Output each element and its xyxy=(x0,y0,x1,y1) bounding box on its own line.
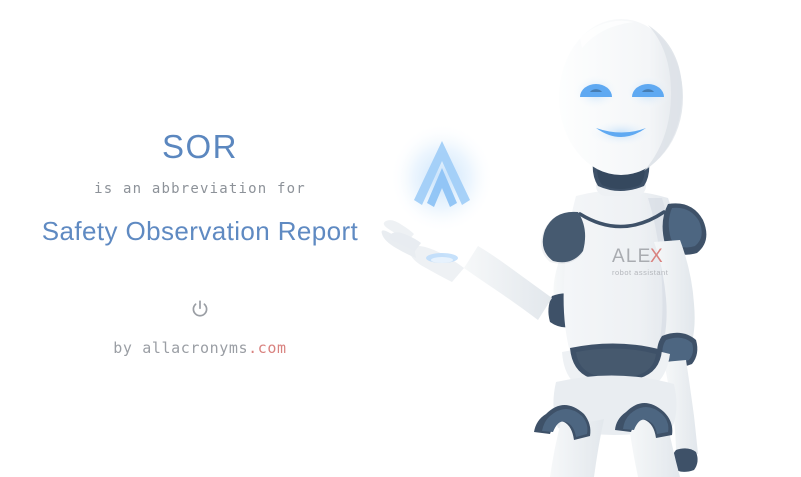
definition-text-column: SOR is an abbreviation for Safety Observ… xyxy=(0,0,400,477)
hologram-chevron-logo xyxy=(390,123,494,233)
badge-name-light: ALE xyxy=(612,246,652,267)
site-credit: by allacronyms.com xyxy=(0,341,400,356)
abbreviation-expansion: Safety Observation Report xyxy=(30,216,370,248)
power-icon-container xyxy=(0,297,400,321)
robot-head xyxy=(559,19,683,175)
alex-robot-illustration: ALE X robot assistant xyxy=(380,0,801,477)
badge-name-accent: X xyxy=(650,246,664,267)
power-icon[interactable] xyxy=(191,300,209,319)
connector-label: is an abbreviation for xyxy=(0,182,400,196)
credit-brand-tld[interactable]: .com xyxy=(248,339,287,357)
robot-illustration-container: ALE X robot assistant xyxy=(380,0,801,477)
page-title-abbreviation: SOR xyxy=(0,130,400,163)
badge-subtitle: robot assistant xyxy=(612,268,669,277)
credit-brand-name[interactable]: allacronyms xyxy=(142,339,248,357)
credit-prefix: by xyxy=(113,339,132,357)
acronym-definition-page: SOR is an abbreviation for Safety Observ… xyxy=(0,0,801,477)
robot-chest-badge: ALE X robot assistant xyxy=(612,246,669,277)
